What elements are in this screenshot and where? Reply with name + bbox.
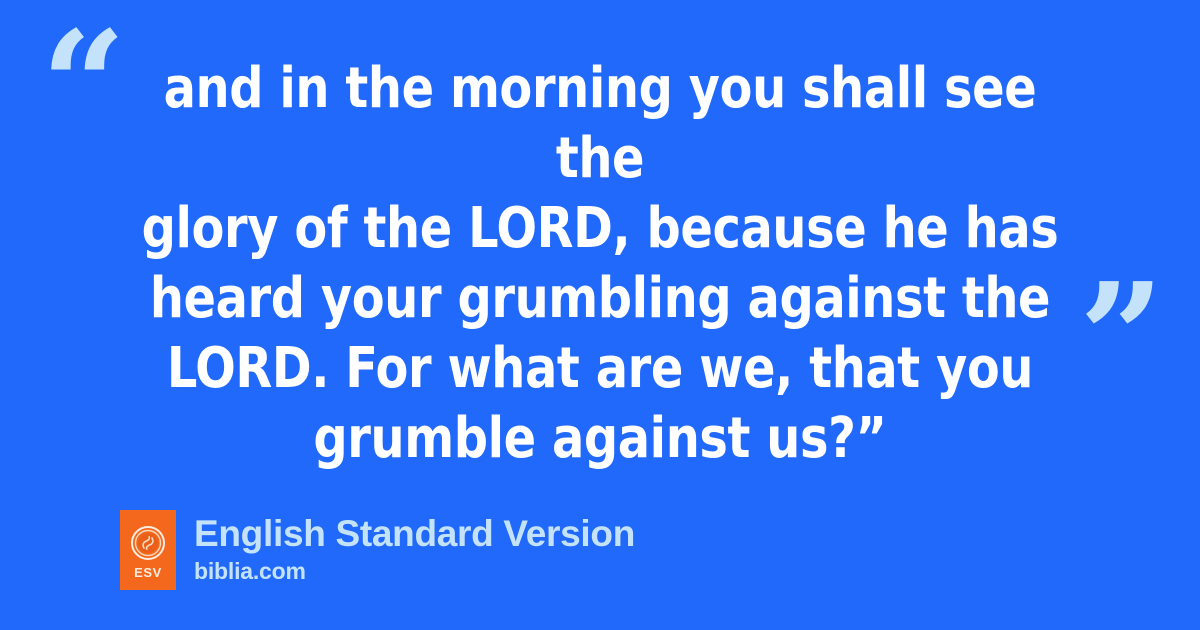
bible-version-name: English Standard Version xyxy=(194,512,635,556)
site-url-label[interactable]: biblia.com xyxy=(194,557,635,585)
esv-logo-badge[interactable]: ESV xyxy=(120,510,176,590)
verse-text: and in the morning you shall see the glo… xyxy=(125,54,1075,474)
verse-block: and in the morning you shall see the glo… xyxy=(100,54,1100,474)
verse-image-card: “ and in the morning you shall see the g… xyxy=(0,0,1200,630)
esv-logo-label: ESV xyxy=(134,566,162,579)
attribution[interactable]: ESV English Standard Version biblia.com xyxy=(120,510,635,590)
esv-seal-icon xyxy=(131,526,165,560)
attribution-text: English Standard Version biblia.com xyxy=(194,510,635,585)
closing-quote-icon: ” xyxy=(1079,263,1166,411)
